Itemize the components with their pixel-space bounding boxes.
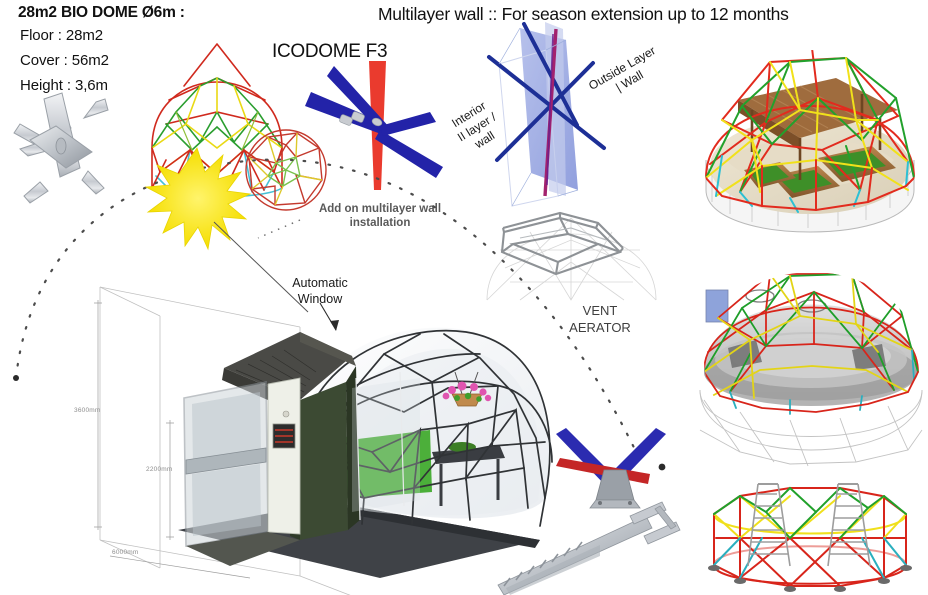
dome-base-bottom-figure xyxy=(708,484,912,592)
sun-ray-pointer xyxy=(214,222,308,312)
vent-aerator-figure xyxy=(487,213,656,300)
leader-dots xyxy=(258,220,300,238)
ladder-right xyxy=(828,484,870,566)
automatic-window-leader xyxy=(320,303,339,331)
hub-connector-figure xyxy=(14,93,108,203)
sun-icon xyxy=(146,148,250,249)
dome-sphere-small-figure xyxy=(246,130,326,210)
ground-screw-figure xyxy=(498,502,680,595)
dim-width-floor: 6000mm xyxy=(112,549,139,556)
dome-grey-mid-figure xyxy=(700,274,922,466)
dome-interior-top-figure xyxy=(706,48,914,232)
base-plate-connector-figure xyxy=(556,428,666,508)
illustration-canvas: 3600mm 2200mm 6000mm xyxy=(0,0,928,595)
wall-panel-diagram xyxy=(489,22,604,206)
main-render-figure xyxy=(94,287,552,595)
dim-height-overall: 3600mm xyxy=(74,407,101,414)
dim-height-door: 2200mm xyxy=(146,466,173,473)
